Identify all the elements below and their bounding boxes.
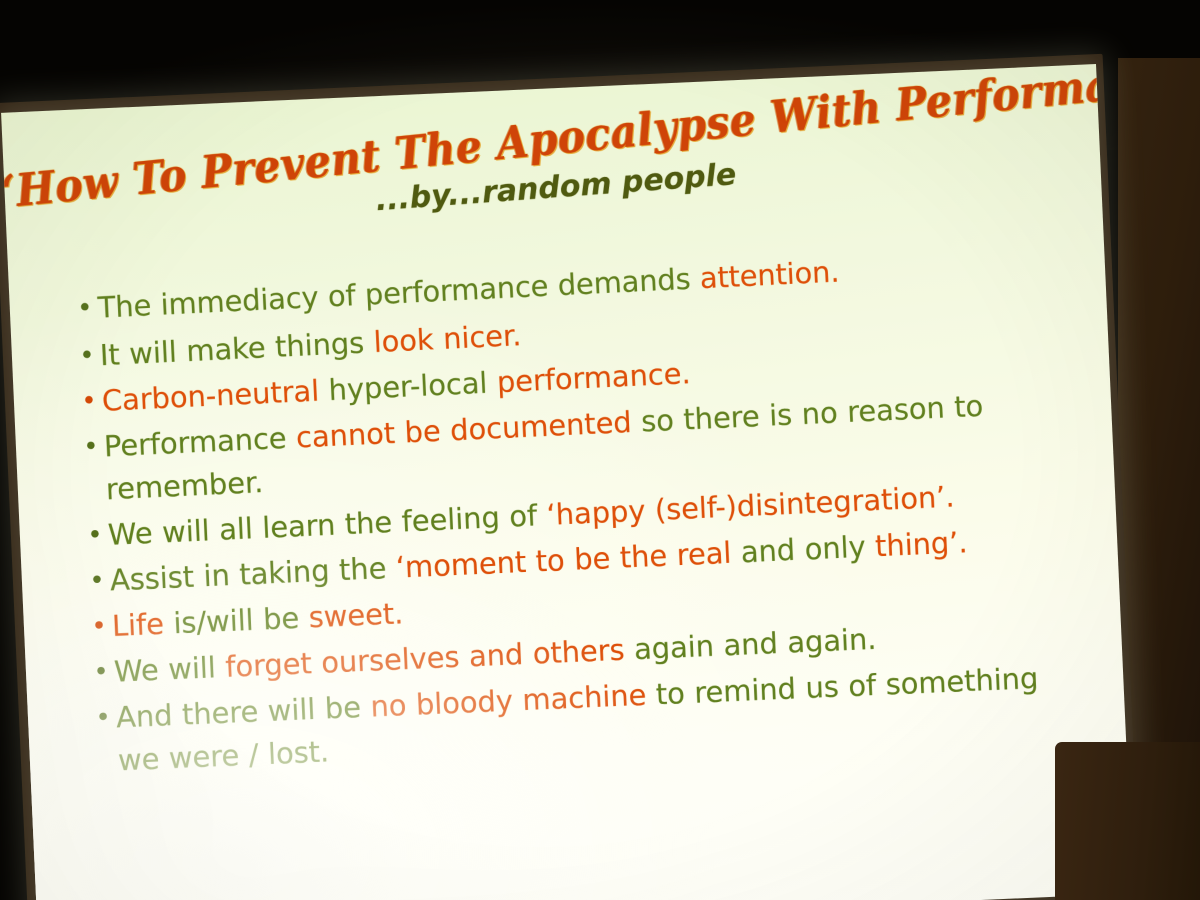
text-segment-green: is/will be [173,600,310,640]
bullet-list: •The immediacy of performance demands at… [71,244,1082,788]
text-segment-orange: look nicer. [373,318,522,359]
foreground-panel [1055,742,1200,900]
text-segment-orange: performance. [496,356,691,399]
bullet-dot-icon: • [71,287,99,331]
bullet-dot-icon: • [83,559,111,603]
text-segment-green: And there will be [115,690,371,735]
text-segment-orange: Carbon-neutral [101,373,329,418]
dark-room-scene: “How To Prevent The Apocalypse With Perf… [0,0,1200,900]
text-segment-green: Performance [103,421,297,464]
bullet-dot-icon: • [87,651,115,695]
text-segment-green: and only [740,529,876,569]
bullet-dot-icon: • [81,514,109,558]
bullet-dot-icon: • [85,605,113,649]
text-segment-orange: attention. [699,255,840,296]
bullet-dot-icon: • [73,334,101,378]
bullet-dot-icon: • [89,697,117,741]
text-segment-orange: Life [111,606,174,643]
text-segment-green: We will [113,650,226,689]
text-segment-orange: thing’. [874,525,968,563]
text-segment-green: Assist in taking the [109,551,396,598]
slide-header: “How To Prevent The Apocalypse With Perf… [2,86,1101,230]
presentation-slide: “How To Prevent The Apocalypse With Perf… [1,64,1133,900]
bullet-dot-icon: • [77,425,105,469]
projection-screen: “How To Prevent The Apocalypse With Perf… [1,64,1133,900]
text-segment-orange: sweet. [308,596,404,634]
bullet-dot-icon: • [75,380,103,424]
text-segment-orange: cannot be documented [295,405,642,455]
text-segment-green: again and again. [633,622,877,666]
text-segment-orange: ‘moment to be the real [395,535,741,584]
text-segment-orange: no bloody machine [370,677,657,723]
text-segment-green: hyper-local [328,365,498,407]
text-segment-green: It will make things [99,325,374,372]
